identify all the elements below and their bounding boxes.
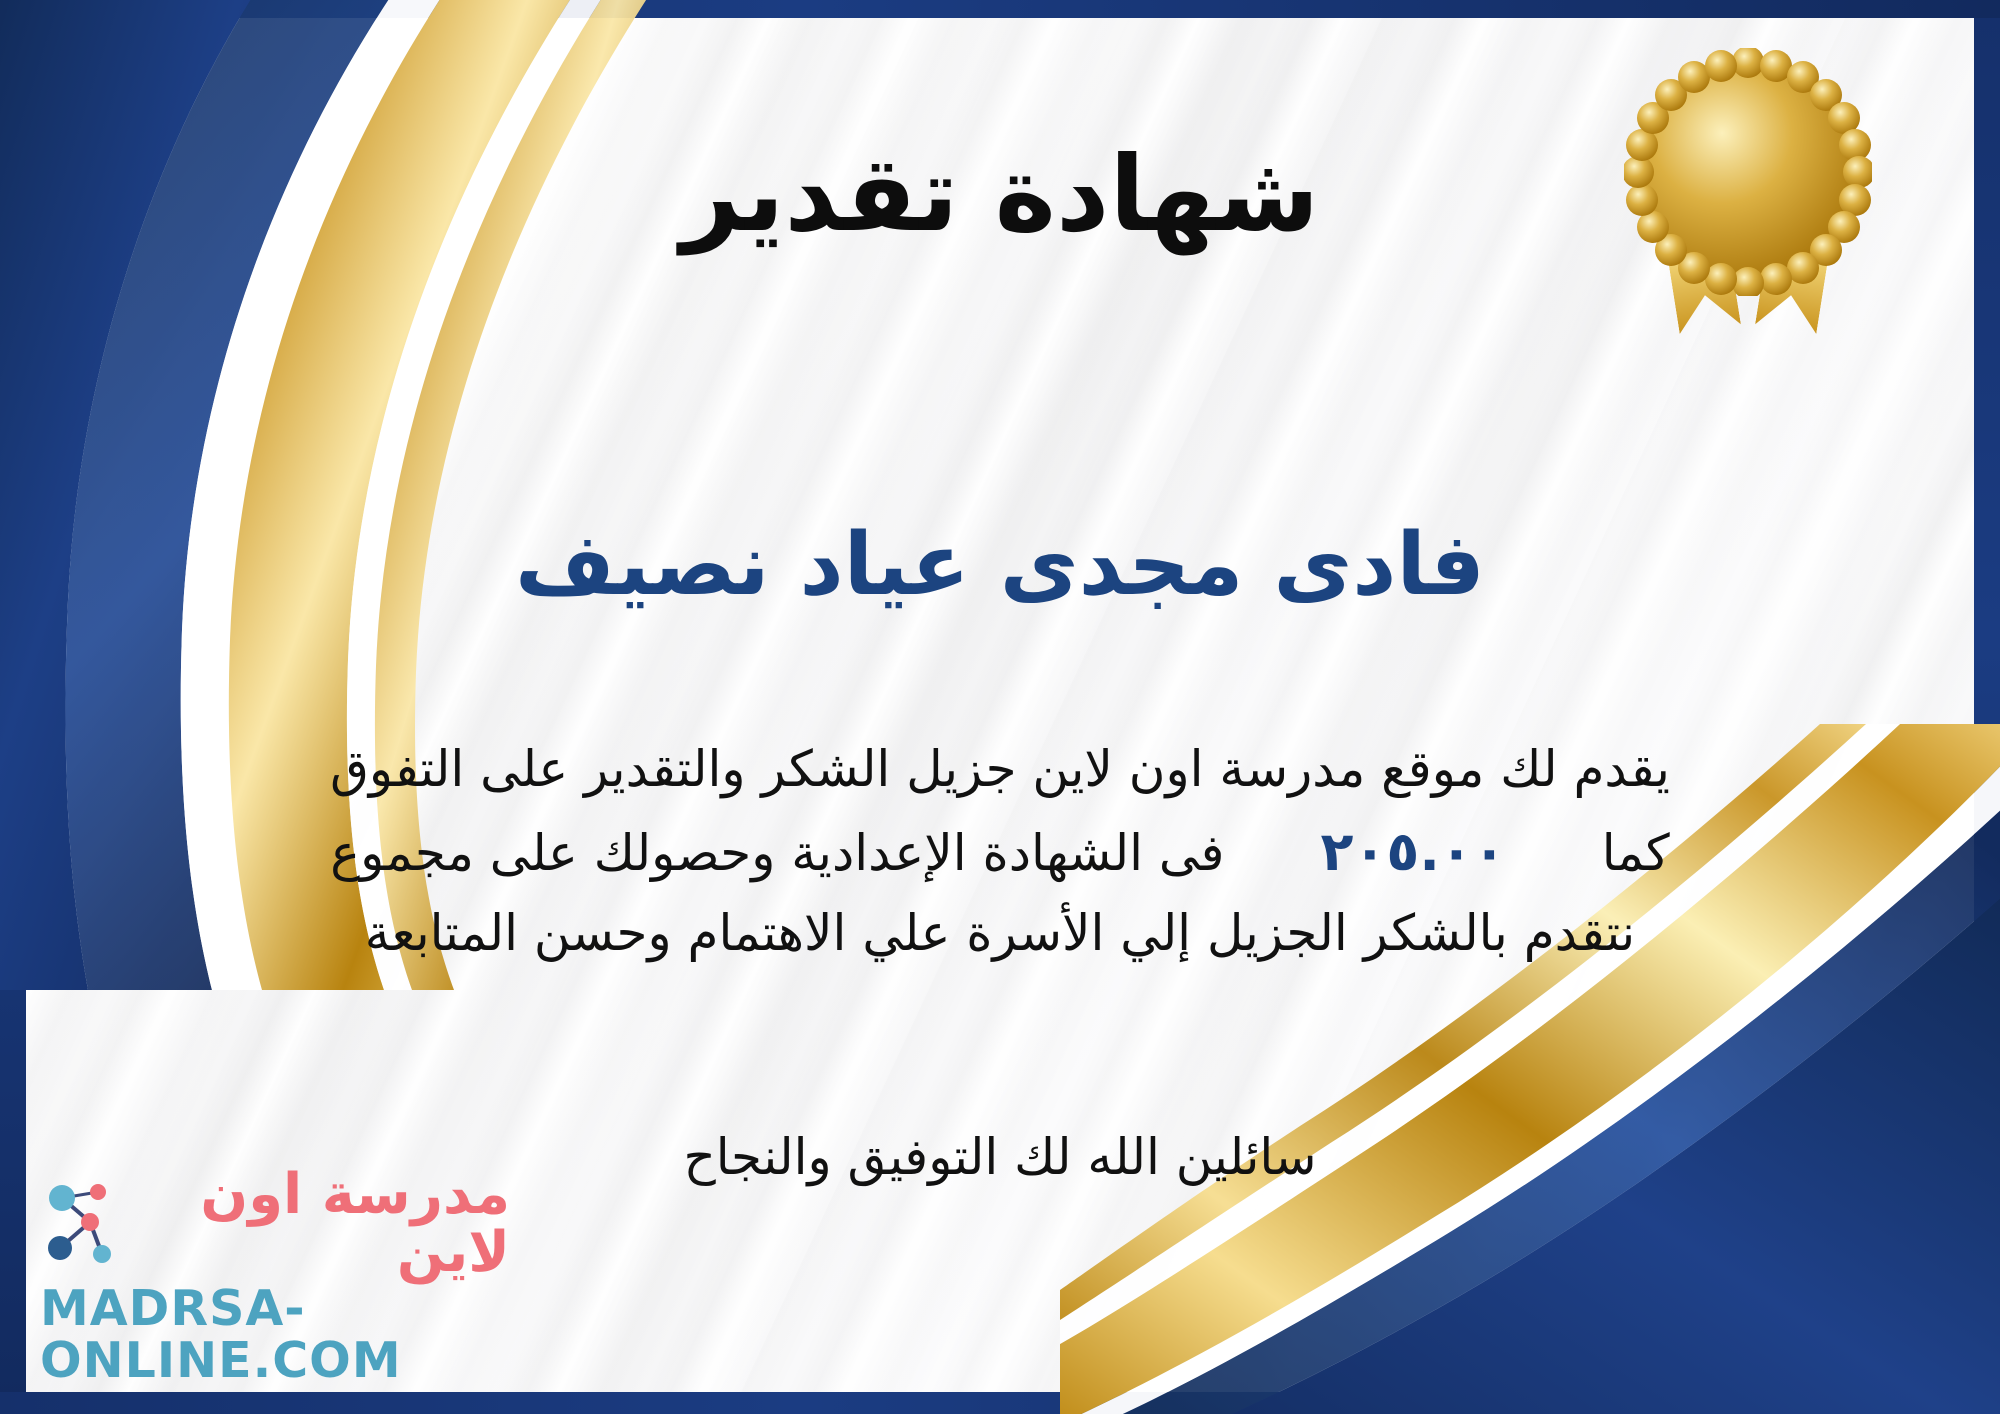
border-edge-top bbox=[0, 0, 2000, 18]
total-score-value: ٢٠٥.٠٠ bbox=[1294, 820, 1531, 883]
body-line-1: يقدم لك موقع مدرسة اون لاين جزيل الشكر و… bbox=[60, 730, 1940, 809]
certificate-body: يقدم لك موقع مدرسة اون لاين جزيل الشكر و… bbox=[60, 730, 1940, 973]
logo-website-url[interactable]: MADRSA-ONLINE.COM bbox=[40, 1283, 510, 1386]
recipient-name: فادى مجدى عياد نصيف bbox=[0, 518, 2000, 613]
gold-award-medal-icon bbox=[1624, 48, 1872, 296]
body-line-3: نتقدم بالشكر الجزيل إلي الأسرة علي الاهت… bbox=[60, 894, 1940, 973]
logo-arabic-name: مدرسة اون لاين bbox=[124, 1166, 510, 1284]
site-logo[interactable]: مدرسة اون لاين MADRSA-ONLINE.COM bbox=[40, 1166, 510, 1386]
logo-arabic-row: مدرسة اون لاين bbox=[40, 1166, 510, 1284]
body-line-2-text-after: فى الشهادة الإعدادية وحصولك على مجموع bbox=[330, 824, 1224, 882]
certificate-canvas: شهادة تقدير فادى مجدى عياد نصيف يقدم لك … bbox=[0, 0, 2000, 1414]
body-line-2-text-before: كما bbox=[1602, 824, 1670, 882]
border-edge-bottom bbox=[0, 1392, 2000, 1414]
body-line-2: كما٢٠٥.٠٠فى الشهادة الإعدادية وحصولك على… bbox=[60, 809, 1940, 894]
medal-scallop-edge bbox=[1624, 48, 1872, 296]
network-nodes-icon bbox=[40, 1178, 114, 1270]
